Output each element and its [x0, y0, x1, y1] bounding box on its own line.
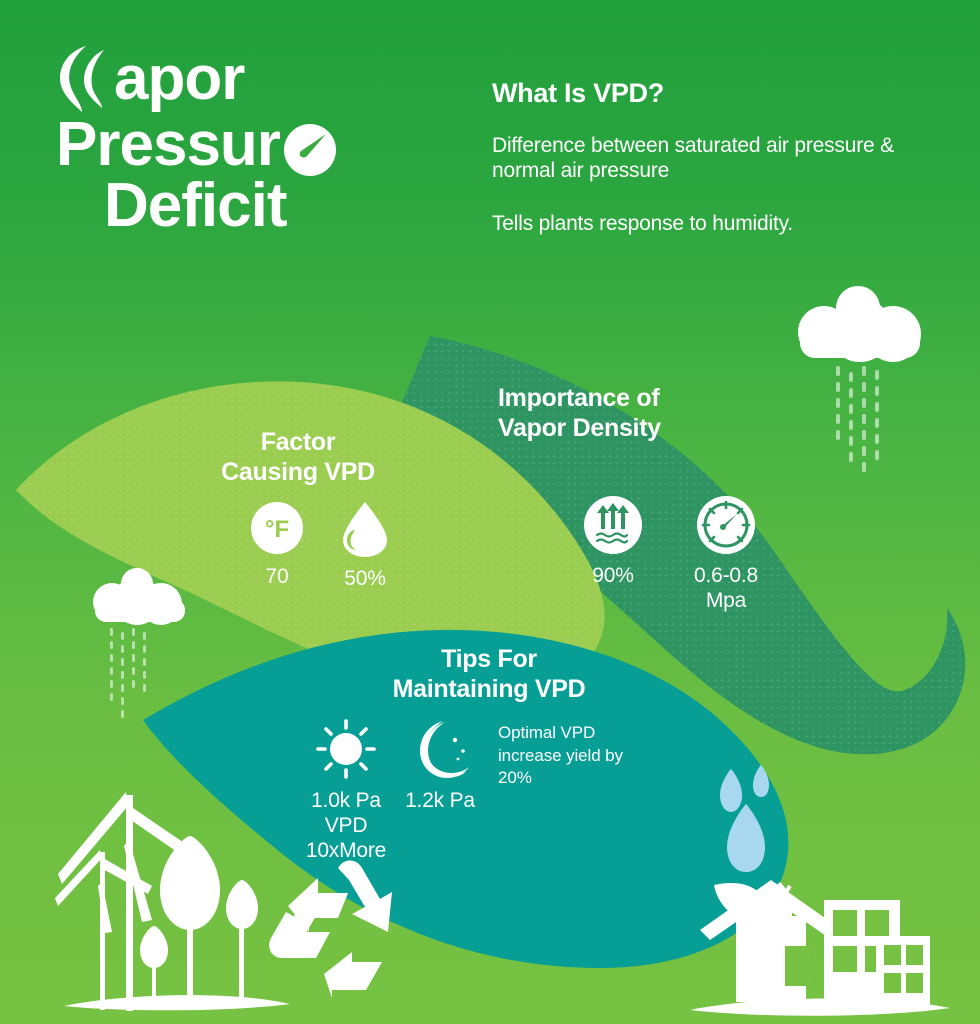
rain-cloud-icon-left [93, 568, 185, 718]
stat-humidity-label: 50% [324, 567, 406, 592]
rain-cloud-icon-right [798, 286, 921, 472]
what-is-vpd-block: What Is VPD? Difference between saturate… [492, 78, 952, 236]
stat-night-vpd: 1.2k Pa [398, 718, 482, 814]
infographic-canvas: apor Pressur Deficit What Is VPD? Differ… [0, 0, 980, 1024]
what-is-vpd-heading: What Is VPD? [492, 78, 952, 109]
page-title: apor Pressur Deficit [56, 42, 456, 236]
factor-heading-line-1: Factor [178, 428, 418, 458]
vapor-swirl-icon [56, 42, 118, 116]
fahrenheit-icon: °F [249, 500, 305, 556]
tips-note: Optimal VPD increase yield by 20% [498, 722, 638, 790]
tips-panel-heading: Tips For Maintaining VPD [318, 645, 660, 704]
importance-heading-line-1: Importance of [498, 384, 748, 414]
what-is-vpd-paragraph-1: Difference between saturated air pressur… [492, 134, 952, 184]
stat-day-vpd: 1.0k Pa VPD 10xMore [300, 718, 392, 863]
moon-icon [409, 718, 471, 780]
evaporation-icon [583, 495, 643, 555]
gauge-icon [282, 122, 338, 178]
title-line-1: apor [114, 49, 244, 109]
what-is-vpd-paragraph-2: Tells plants response to humidity. [492, 211, 952, 236]
stat-vapor-density: 90% [572, 495, 654, 589]
tips-heading-line-2: Maintaining VPD [318, 675, 660, 705]
stat-humidity: 50% [324, 500, 406, 592]
importance-heading-line-2: Vapor Density [498, 414, 748, 444]
importance-panel-heading: Importance of Vapor Density [498, 384, 748, 443]
svg-text:°F: °F [265, 516, 289, 543]
stat-vapor-density-label: 90% [572, 564, 654, 589]
factor-panel-heading: Factor Causing VPD [178, 428, 418, 487]
title-line-2: Pressur [56, 115, 280, 175]
stat-pressure-label: 0.6-0.8 Mpa [678, 564, 774, 614]
tips-heading-line-1: Tips For [318, 645, 660, 675]
stat-night-vpd-label: 1.2k Pa [398, 789, 482, 814]
title-line-3: Deficit [104, 176, 286, 236]
water-drop-icon [339, 500, 391, 558]
stat-temperature-label: 70 [236, 565, 318, 590]
pressure-gauge-icon [696, 495, 756, 555]
stat-day-vpd-label: 1.0k Pa VPD 10xMore [300, 789, 392, 863]
stat-temperature: °F 70 [236, 500, 318, 590]
factor-heading-line-2: Causing VPD [178, 458, 418, 488]
stat-pressure: 0.6-0.8 Mpa [678, 495, 774, 614]
sun-icon [315, 718, 377, 780]
